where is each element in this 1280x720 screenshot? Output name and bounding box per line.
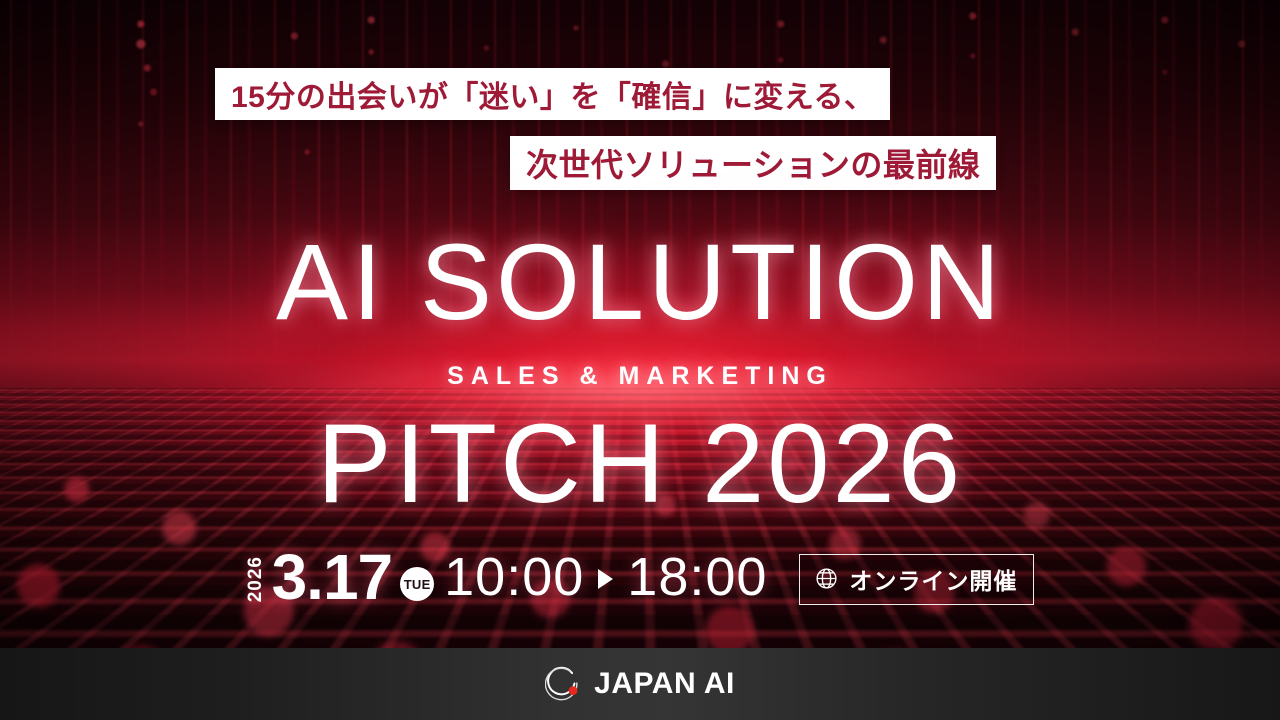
event-time-range: 10:00 18:00 — [444, 550, 767, 604]
event-title-subtitle: SALES & MARKETING — [0, 362, 1280, 391]
event-datetime-row: 2026 3.17 TUE 10:00 18:00 オンライン開催 — [0, 546, 1280, 608]
japan-ai-logo-text: JAPAN AI — [594, 667, 735, 701]
play-triangle-icon — [598, 569, 613, 589]
event-end-time: 18:00 — [627, 550, 767, 604]
event-year: 2026 — [246, 556, 265, 602]
event-date: 3.17 — [272, 545, 393, 609]
headline-line-1: 15分の出会いが「迷い」を「確信」に変える、 — [215, 68, 890, 120]
day-of-week-badge: TUE — [400, 567, 434, 601]
event-start-time: 10:00 — [444, 550, 584, 604]
event-title-secondary: PITCH 2026 — [0, 408, 1280, 520]
online-format-label: オンライン開催 — [849, 562, 1017, 596]
headline-line-2: 次世代ソリューションの最前線 — [510, 136, 996, 190]
event-banner: 15分の出会いが「迷い」を「確信」に変える、 次世代ソリューションの最前線 AI… — [0, 0, 1280, 720]
event-title-primary: AI SOLUTION — [0, 228, 1280, 336]
japan-ai-enso-logo-icon — [545, 665, 583, 703]
globe-icon — [814, 566, 839, 591]
footer-bar: JAPAN AI — [0, 648, 1280, 720]
online-format-badge: オンライン開催 — [799, 554, 1034, 605]
